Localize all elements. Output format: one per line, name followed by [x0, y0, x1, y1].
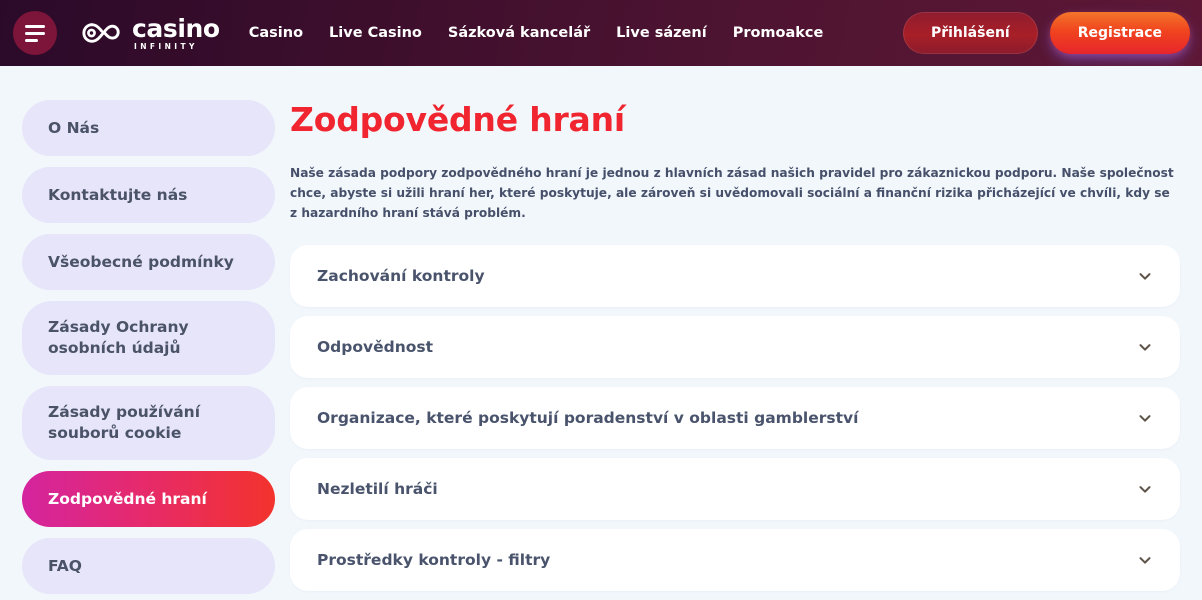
- sidebar-item-label: O Nás: [48, 118, 99, 139]
- accordion-item-organizace-poradenstvi[interactable]: Organizace, které poskytují poradenství …: [290, 387, 1180, 449]
- infinity-icon: [81, 22, 125, 44]
- sidebar-nav: O Nás Kontaktujte nás Všeobecné podmínky…: [0, 66, 276, 600]
- sidebar-item-label: FAQ: [48, 556, 82, 577]
- nav-link-casino[interactable]: Casino: [249, 25, 303, 41]
- sidebar-item-label: Zodpovědné hraní: [48, 489, 207, 510]
- login-button[interactable]: Přihlášení: [903, 12, 1038, 54]
- sidebar-item-o-nas[interactable]: O Nás: [22, 100, 275, 156]
- sidebar-item-zasady-ochrany-osobnich-udaju[interactable]: Zásady Ochrany osobních údajů: [22, 301, 275, 375]
- page-title: Zodpovědné hraní: [290, 100, 1180, 139]
- accordion-item-nezletili-hraci[interactable]: Nezletilí hráči: [290, 458, 1180, 520]
- site-header: casino INFINITY Casino Live Casino Sázko…: [0, 0, 1202, 66]
- accordion-item-odpovednost[interactable]: Odpovědnost: [290, 316, 1180, 378]
- nav-link-promoakce[interactable]: Promoakce: [733, 25, 824, 41]
- sidebar-item-label: Zásady Ochrany osobních údajů: [48, 317, 249, 359]
- intro-paragraph: Naše zásada podpory zodpovědného hraní j…: [290, 164, 1180, 223]
- accordion-item-title: Nezletilí hráči: [317, 480, 438, 498]
- hamburger-menu-button[interactable]: [13, 11, 57, 55]
- sidebar-item-label: Všeobecné podmínky: [48, 252, 234, 273]
- logo-subtitle: INFINITY: [134, 43, 220, 51]
- sidebar-item-zasady-pouzivani-souboru-cookie[interactable]: Zásady používání souborů cookie: [22, 386, 275, 460]
- chevron-down-icon[interactable]: [1134, 407, 1156, 429]
- sidebar-item-zodpovedne-hrani[interactable]: Zodpovědné hraní: [22, 471, 275, 527]
- accordion-item-title: Organizace, které poskytují poradenství …: [317, 409, 858, 427]
- chevron-down-icon[interactable]: [1134, 265, 1156, 287]
- main-content: Zodpovědné hraní Naše zásada podpory zod…: [276, 66, 1202, 600]
- page-body: O Nás Kontaktujte nás Všeobecné podmínky…: [0, 66, 1202, 600]
- sidebar-item-label: Kontaktujte nás: [48, 185, 187, 206]
- sidebar-item-faq[interactable]: FAQ: [22, 538, 275, 594]
- chevron-down-icon[interactable]: [1134, 478, 1156, 500]
- sidebar-item-kontaktujte-nas[interactable]: Kontaktujte nás: [22, 167, 275, 223]
- accordion-item-prostredky-kontroly-filtry[interactable]: Prostředky kontroly - filtry: [290, 529, 1180, 591]
- site-logo[interactable]: casino INFINITY: [81, 16, 220, 51]
- sidebar-item-vseobecne-podminky[interactable]: Všeobecné podmínky: [22, 234, 275, 290]
- logo-wordmark: casino: [132, 16, 220, 41]
- hamburger-icon-line-1: [25, 25, 45, 28]
- nav-link-live-casino[interactable]: Live Casino: [329, 25, 422, 41]
- nav-link-sazkova-kancelar[interactable]: Sázková kancelář: [448, 25, 590, 41]
- chevron-down-icon[interactable]: [1134, 336, 1156, 358]
- accordion-list: Zachování kontroly Odpovědnost Organizac…: [290, 245, 1180, 591]
- chevron-down-icon[interactable]: [1134, 549, 1156, 571]
- hamburger-icon-line-3: [25, 39, 38, 42]
- accordion-item-title: Odpovědnost: [317, 338, 433, 356]
- sidebar-item-label: Zásady používání souborů cookie: [48, 402, 249, 444]
- accordion-item-zachovani-kontroly[interactable]: Zachování kontroly: [290, 245, 1180, 307]
- nav-link-live-sazeni[interactable]: Live sázení: [616, 25, 707, 41]
- primary-nav: Casino Live Casino Sázková kancelář Live…: [249, 25, 824, 41]
- accordion-item-title: Zachování kontroly: [317, 267, 485, 285]
- register-button[interactable]: Registrace: [1050, 12, 1190, 54]
- auth-actions: Přihlášení Registrace: [903, 12, 1190, 54]
- hamburger-icon-line-2: [25, 32, 45, 35]
- accordion-item-title: Prostředky kontroly - filtry: [317, 551, 550, 569]
